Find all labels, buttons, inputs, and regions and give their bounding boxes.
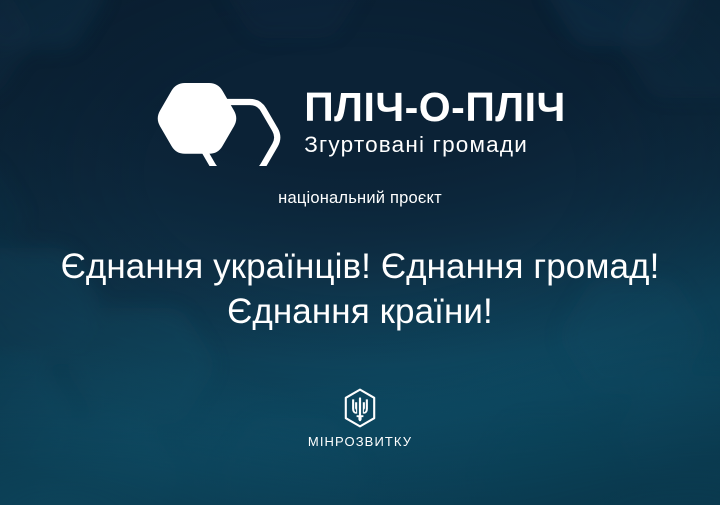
project-label: національний проєкт (278, 189, 442, 208)
headline-line-1: Єднання українців! Єднання громад! (61, 244, 660, 289)
overlapping-hexagons-icon (154, 80, 282, 166)
ukraine-trident-hexagon-icon (342, 388, 378, 428)
ministry-lockup: МІНРОЗВИТКУ (0, 388, 720, 449)
ministry-name: МІНРОЗВИТКУ (308, 434, 412, 449)
brand-name: ПЛІЧ-О-ПЛІЧ (304, 87, 566, 129)
brand-lockup: ПЛІЧ-О-ПЛІЧ Згуртовані громади (154, 80, 566, 166)
headline-line-2: Єднання країни! (61, 289, 660, 334)
brand-wordmark: ПЛІЧ-О-ПЛІЧ Згуртовані громади (304, 87, 566, 159)
brand-tagline: Згуртовані громади (304, 131, 566, 159)
headline: Єднання українців! Єднання громад! Єднан… (61, 244, 660, 334)
poster-banner: ПЛІЧ-О-ПЛІЧ Згуртовані громади національ… (0, 0, 720, 505)
